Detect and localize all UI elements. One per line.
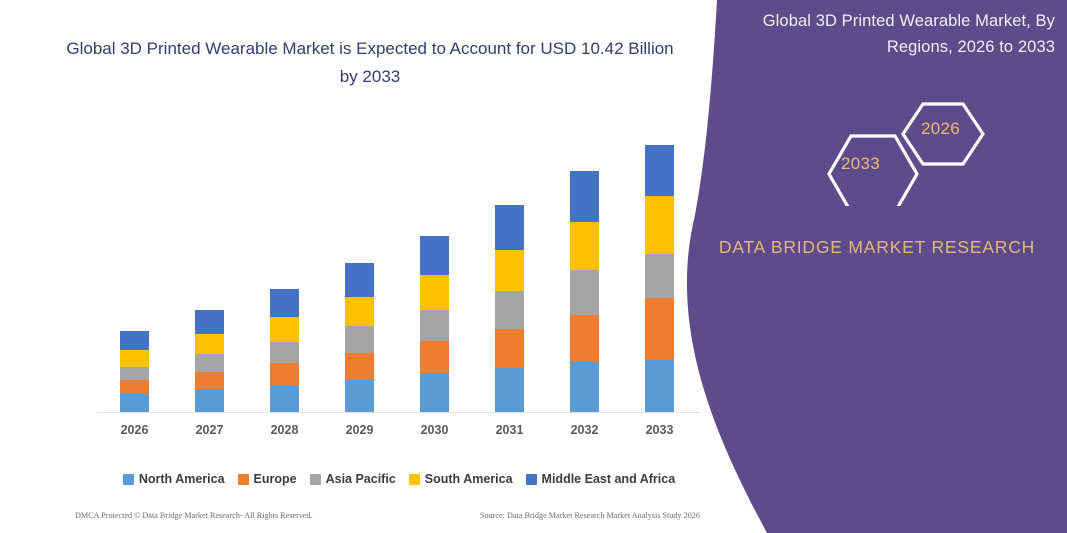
segment-north-america-2028 [270,386,299,413]
x-label-2028: 2028 [255,423,315,437]
panel-title: Global 3D Printed Wearable Market, By Re… [715,8,1055,60]
hexagon-group: 2033 2026 [813,96,1043,206]
page-title: Global 3D Printed Wearable Market is Exp… [60,35,680,91]
segment-middle-east-and-africa-2027 [195,310,224,334]
segment-north-america-2029 [345,380,374,413]
segment-middle-east-and-africa-2029 [345,263,374,297]
legend-swatch-icon [123,474,134,485]
segment-north-america-2027 [195,390,224,413]
bar-2027 [195,310,224,413]
hexagon-2026-label: 2026 [921,119,960,139]
segment-middle-east-and-africa-2030 [420,236,449,276]
segment-middle-east-and-africa-2026 [120,331,149,350]
x-label-2029: 2029 [330,423,390,437]
footer: DMCA Protected © Data Bridge Market Rese… [75,506,700,524]
segment-europe-2031 [495,329,524,368]
legend-item-south-america[interactable]: South America [409,472,513,486]
segment-europe-2032 [570,315,599,362]
segment-europe-2033 [645,298,674,359]
segment-middle-east-and-africa-2032 [570,171,599,222]
stacked-bar-chart [97,130,697,413]
legend-label: Middle East and Africa [542,472,676,486]
bar-2026 [120,331,149,413]
segment-north-america-2026 [120,394,149,413]
segment-asia-pacific-2026 [120,367,149,380]
legend-swatch-icon [238,474,249,485]
segment-asia-pacific-2032 [570,270,599,315]
bar-2028 [270,289,299,413]
segment-europe-2030 [420,341,449,374]
segment-middle-east-and-africa-2031 [495,205,524,251]
x-axis-labels: 20262027202820292030203120322033 [97,421,701,445]
segment-north-america-2033 [645,360,674,413]
segment-south-america-2029 [345,297,374,327]
x-label-2031: 2031 [480,423,540,437]
segment-europe-2028 [270,363,299,386]
panel-brand-name: DATA BRIDGE MARKET RESEARCH [707,232,1047,262]
x-label-2033: 2033 [630,423,690,437]
bar-2030 [420,236,449,413]
legend-swatch-icon [526,474,537,485]
segment-south-america-2033 [645,196,674,254]
hexagon-2033-label: 2033 [841,154,880,174]
hexagon-outlines [813,96,1043,206]
x-label-2032: 2032 [555,423,615,437]
chart-legend: North AmericaEuropeAsia PacificSouth Ame… [97,468,701,490]
x-label-2026: 2026 [105,423,165,437]
legend-item-north-america[interactable]: North America [123,472,225,486]
segment-south-america-2028 [270,317,299,342]
legend-label: Europe [254,472,297,486]
segment-north-america-2031 [495,368,524,413]
segment-middle-east-and-africa-2033 [645,145,674,196]
segment-middle-east-and-africa-2028 [270,289,299,317]
legend-swatch-icon [310,474,321,485]
legend-item-asia-pacific[interactable]: Asia Pacific [310,472,396,486]
segment-asia-pacific-2033 [645,254,674,298]
x-label-2027: 2027 [180,423,240,437]
segment-europe-2027 [195,372,224,391]
legend-item-middle-east-and-africa[interactable]: Middle East and Africa [526,472,676,486]
infographic-canvas: Global 3D Printed Wearable Market is Exp… [0,0,1067,533]
x-label-2030: 2030 [405,423,465,437]
right-panel: Global 3D Printed Wearable Market, By Re… [687,0,1067,533]
segment-europe-2029 [345,353,374,381]
segment-north-america-2032 [570,362,599,413]
segment-europe-2026 [120,380,149,394]
footer-copyright: DMCA Protected © Data Bridge Market Rese… [75,511,313,520]
segment-south-america-2030 [420,275,449,310]
segment-north-america-2030 [420,374,449,413]
legend-swatch-icon [409,474,420,485]
segment-asia-pacific-2029 [345,326,374,352]
legend-item-europe[interactable]: Europe [238,472,297,486]
segment-south-america-2032 [570,222,599,270]
legend-label: South America [425,472,513,486]
x-axis-line [97,412,701,413]
segment-south-america-2026 [120,350,149,366]
legend-label: Asia Pacific [326,472,396,486]
footer-source: Source: Data Bridge Market Research Mark… [480,511,700,520]
segment-south-america-2031 [495,250,524,291]
segment-asia-pacific-2031 [495,291,524,329]
bar-2032 [570,171,599,413]
bar-2031 [495,205,524,413]
legend-label: North America [139,472,225,486]
segment-south-america-2027 [195,334,224,355]
segment-asia-pacific-2027 [195,354,224,371]
bar-2033 [645,145,674,413]
bar-2029 [345,263,374,413]
segment-asia-pacific-2028 [270,342,299,364]
segment-asia-pacific-2030 [420,310,449,342]
